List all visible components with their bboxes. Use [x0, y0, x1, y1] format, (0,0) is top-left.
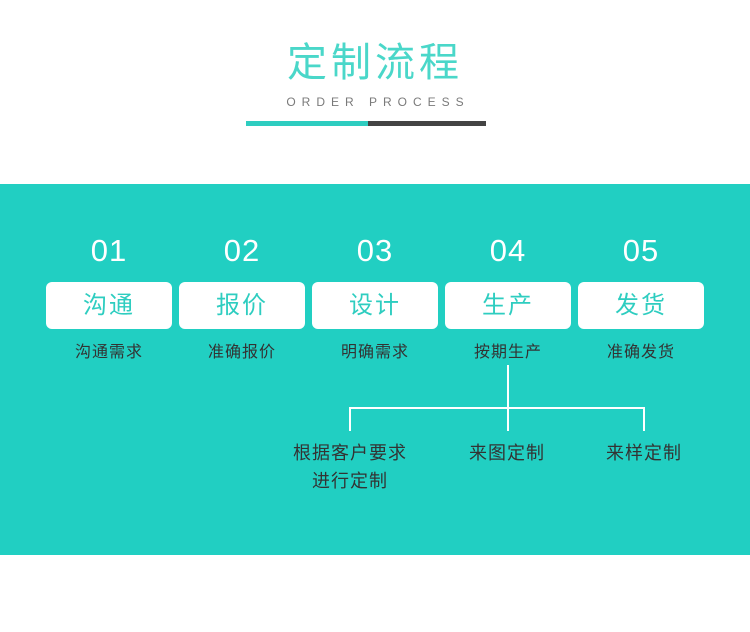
page-footer-spacer: [0, 555, 750, 632]
process-step-5[interactable]: 05 发货 准确发货: [578, 184, 704, 363]
page-header: 定制流程 ORDER PROCESS: [0, 0, 750, 184]
step-caption: 按期生产: [445, 329, 571, 363]
step-box-label: 设计: [349, 292, 401, 320]
header-text-group: 定制流程 ORDER PROCESS: [0, 0, 750, 110]
step-number: 04: [445, 184, 571, 269]
page-title: 定制流程: [0, 0, 750, 88]
sub-option-custom-by-drawing[interactable]: 来图定制: [447, 439, 567, 467]
step-number: 01: [46, 184, 172, 269]
connector-drop-line-2: [507, 407, 509, 431]
step-box-label: 生产: [482, 292, 534, 320]
step-caption: 准确发货: [578, 329, 704, 363]
process-step-list: 01 沟通 沟通需求 02 报价 准确报价 03 设计 明确需求 04 生产: [46, 184, 704, 363]
step-box-label: 沟通: [83, 292, 135, 320]
title-divider-right-segment: [368, 121, 486, 126]
step-box[interactable]: 报价: [179, 282, 305, 329]
process-band: 01 沟通 沟通需求 02 报价 准确报价 03 设计 明确需求 04 生产: [0, 184, 750, 555]
step-box[interactable]: 发货: [578, 282, 704, 329]
page-subtitle: ORDER PROCESS: [0, 88, 750, 110]
process-step-3[interactable]: 03 设计 明确需求: [312, 184, 438, 363]
step-caption: 沟通需求: [46, 329, 172, 363]
step-caption: 明确需求: [312, 329, 438, 363]
connector-stem-line: [507, 365, 509, 407]
title-divider-left-segment: [246, 121, 368, 126]
sub-option-custom-by-requirement[interactable]: 根据客户要求 进行定制: [270, 439, 430, 495]
step-box[interactable]: 生产: [445, 282, 571, 329]
step-box[interactable]: 沟通: [46, 282, 172, 329]
connector-drop-line-1: [349, 407, 351, 431]
step-number: 02: [179, 184, 305, 269]
step-box-label: 发货: [615, 292, 667, 320]
title-divider: [246, 121, 486, 126]
connector-horizontal-line: [349, 407, 645, 409]
process-step-4[interactable]: 04 生产 按期生产: [445, 184, 571, 363]
process-step-1[interactable]: 01 沟通 沟通需求: [46, 184, 172, 363]
step-caption: 准确报价: [179, 329, 305, 363]
process-step-2[interactable]: 02 报价 准确报价: [179, 184, 305, 363]
step-number: 05: [578, 184, 704, 269]
step-box[interactable]: 设计: [312, 282, 438, 329]
sub-option-custom-by-sample[interactable]: 来样定制: [584, 439, 704, 467]
step-box-label: 报价: [216, 292, 268, 320]
connector-drop-line-3: [643, 407, 645, 431]
step-number: 03: [312, 184, 438, 269]
